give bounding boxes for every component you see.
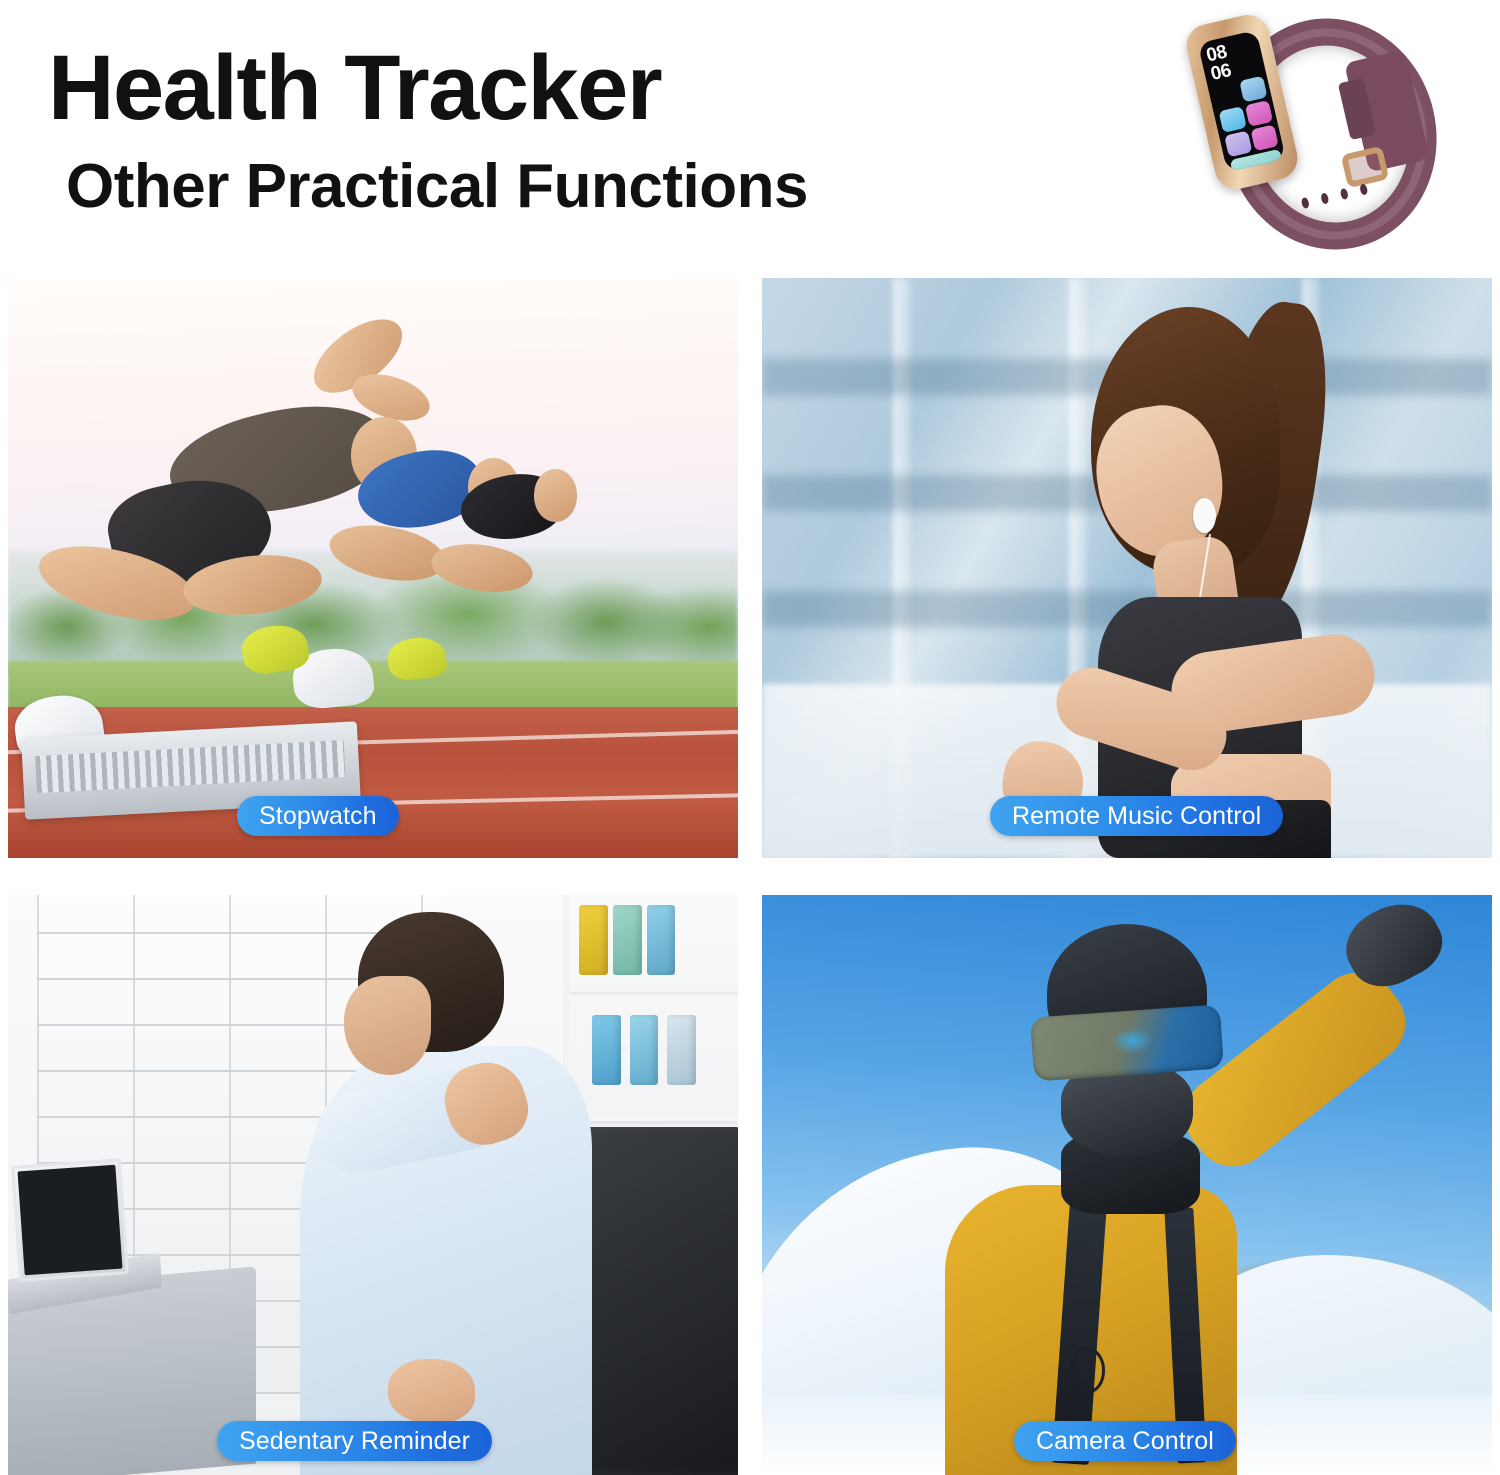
man-face [344,976,432,1075]
laptop-screen [11,1158,128,1281]
binder [667,1015,696,1085]
header: Health Tracker Other Practical Functions [0,0,1180,270]
feature-panel-camera-control[interactable]: Camera Control [762,895,1492,1475]
ski-goggles-icon [1030,1004,1224,1081]
scene-sprinters [8,278,738,858]
watch-display: 08 06 [1198,30,1286,172]
man-hand-on-back [388,1359,476,1423]
feature-badge-camera-control[interactable]: Camera Control [1014,1421,1236,1461]
watch-clock: 08 06 [1205,43,1233,84]
feature-panel-sedentary-reminder[interactable]: Sedentary Reminder [8,895,738,1475]
binder [630,1015,659,1085]
timer-tile-icon [1219,106,1247,133]
earbud-icon [1193,498,1216,533]
page-subtitle: Other Practical Functions [48,153,1180,221]
binder [579,905,608,975]
binder [647,905,676,975]
scene-office-back-pain [8,895,738,1475]
band-illustration: 08 06 [1186,0,1496,268]
steps-tile-icon [1224,130,1252,157]
runner-head [534,469,578,521]
feature-panel-remote-music-control[interactable]: Remote Music Control [762,278,1492,858]
activity-tile-icon [1250,124,1278,151]
infographic-page: Health Tracker Other Practical Functions… [0,0,1500,1475]
feature-badge-stopwatch[interactable]: Stopwatch [237,796,399,836]
strap-ring-icon [1069,1347,1106,1393]
scene-snowboarder [762,895,1492,1475]
scene-woman-earbuds [762,278,1492,858]
weather-tile-icon [1239,76,1267,103]
feature-badge-sedentary-reminder[interactable]: Sedentary Reminder [217,1421,492,1461]
feature-panel-stopwatch[interactable]: Stopwatch [8,278,738,858]
feature-photo-grid: Stopwatch [8,278,1492,1475]
feature-badge-remote-music-control[interactable]: Remote Music Control [990,796,1283,836]
watch-app-tiles [1213,75,1285,172]
page-title: Health Tracker [48,40,1180,137]
binder [613,905,642,975]
heart-rate-tile-icon [1245,100,1273,127]
clock-minutes: 06 [1209,62,1233,85]
product-image-smart-band: 08 06 [1186,0,1496,268]
binder [592,1015,621,1085]
